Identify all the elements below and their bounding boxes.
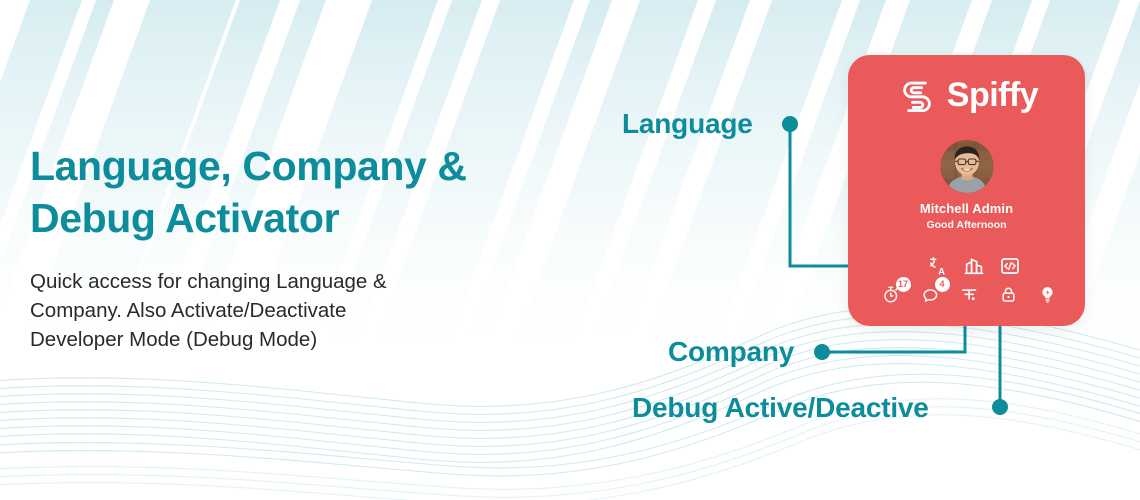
lock-icon[interactable] [999, 284, 1019, 304]
annotation-label-company: Company [668, 336, 794, 368]
user-profile-card: Spiffy [848, 55, 1085, 326]
annotation-label-language: Language [622, 108, 753, 140]
code-brackets-icon[interactable] [1000, 256, 1020, 276]
annotation-label-debug: Debug Active/Deactive [632, 392, 929, 424]
spiffy-s-paperclip-logo-icon [895, 73, 939, 117]
brand-logo: Spiffy [848, 73, 1085, 117]
stopwatch-icon[interactable]: 17 [882, 284, 902, 304]
hero-description: Quick access for changing Language & Com… [30, 267, 480, 354]
user-name: Mitchell Admin [848, 201, 1085, 216]
page-title: Language, Company & Debug Activator [30, 140, 550, 245]
svg-text:A: A [938, 266, 945, 276]
translate-icon[interactable]: A [928, 256, 948, 276]
description-line-1: Quick access for changing Language & [30, 270, 387, 293]
headline-line-2: Debug Activator [30, 195, 339, 241]
hero-copy: Language, Company & Debug Activator Quic… [30, 140, 550, 354]
headline-line-1: Language, Company & [30, 143, 467, 189]
description-line-3: Developer Mode (Debug Mode) [30, 328, 317, 351]
quick-action-icons-secondary: 17 4 [848, 284, 1085, 304]
company-building-icon[interactable] [964, 256, 984, 276]
connector-dot-language [782, 116, 798, 132]
user-avatar-photo-icon [940, 140, 993, 193]
badge-count: 4 [935, 277, 950, 292]
user-greeting: Good Afternoon [848, 219, 1085, 231]
connector-dot-company [814, 344, 830, 360]
speech-bubble-icon[interactable]: 4 [921, 284, 941, 304]
connector-dot-debug [992, 399, 1008, 415]
promo-banner: Language, Company & Debug Activator Quic… [0, 0, 1140, 500]
badge-count: 17 [896, 277, 911, 292]
quick-action-icons-primary: A [848, 256, 1085, 276]
lightbulb-icon[interactable] [1038, 284, 1058, 304]
filter-settings-icon[interactable] [960, 284, 980, 304]
brand-name: Spiffy [947, 78, 1038, 112]
description-line-2: Company. Also Activate/Deactivate [30, 299, 346, 322]
avatar[interactable] [940, 140, 993, 193]
